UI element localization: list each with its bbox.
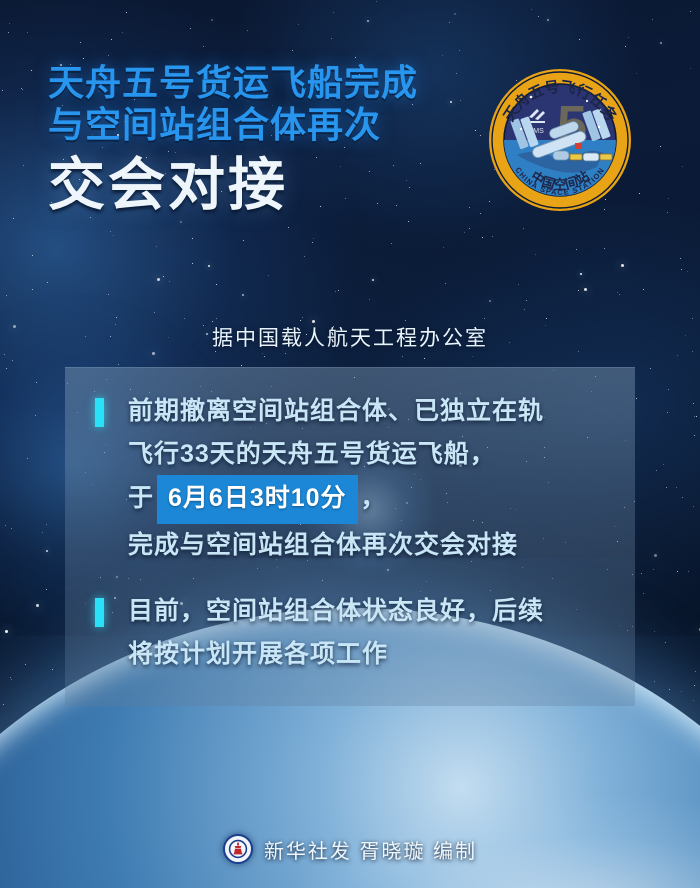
content-line-with-highlight: 于6月6日3时10分， [128, 475, 617, 524]
title-line-2: 与空间站组合体再次 [48, 104, 518, 146]
content-block-2: 目前，空间站组合体状态良好，后续 将按计划开展各项工作 [95, 590, 617, 675]
content-line: 目前，空间站组合体状态良好，后续 [128, 590, 617, 633]
bullet-marker-icon [95, 398, 104, 427]
content-line: 飞行33天的天舟五号货运飞船， [128, 433, 617, 476]
footer-credit: 新华社发 胥晓璇 编制 [0, 834, 700, 864]
poster-root: 天舟五号货运飞船完成 与空间站组合体再次 交会对接 5 [0, 0, 700, 888]
title-line-3: 交会对接 [48, 152, 518, 218]
line-prefix: 于 [128, 484, 154, 512]
content-block-1-lines: 前期撤离空间站组合体、已独立在轨 飞行33天的天舟五号货运飞船， 于6月6日3时… [128, 390, 617, 566]
credit-text: 新华社发 胥晓璇 编制 [264, 835, 477, 864]
line-suffix: ， [361, 484, 387, 512]
bullet-marker-icon [95, 598, 104, 627]
content-line: 完成与空间站组合体再次交会对接 [128, 524, 617, 567]
content-line: 前期撤离空间站组合体、已独立在轨 [128, 390, 617, 433]
date-highlight-badge: 6月6日3时10分 [157, 475, 358, 524]
source-attribution: 据中国载人航天工程办公室 [0, 322, 700, 352]
xinhua-logo-icon [223, 834, 253, 864]
page-title: 天舟五号货运飞船完成 与空间站组合体再次 交会对接 [48, 62, 518, 218]
content-line: 将按计划开展各项工作 [128, 633, 617, 676]
content-block-2-lines: 目前，空间站组合体状态良好，后续 将按计划开展各项工作 [128, 590, 617, 675]
content-panel: 前期撤离空间站组合体、已独立在轨 飞行33天的天舟五号货运飞船， 于6月6日3时… [65, 367, 635, 706]
poster-header: 天舟五号货运飞船完成 与空间站组合体再次 交会对接 5 [0, 0, 700, 300]
mission-badge-icon: 5 CMS [487, 67, 633, 213]
content-block-1: 前期撤离空间站组合体、已独立在轨 飞行33天的天舟五号货运飞船， 于6月6日3时… [95, 390, 617, 566]
title-line-1: 天舟五号货运飞船完成 [48, 62, 518, 104]
